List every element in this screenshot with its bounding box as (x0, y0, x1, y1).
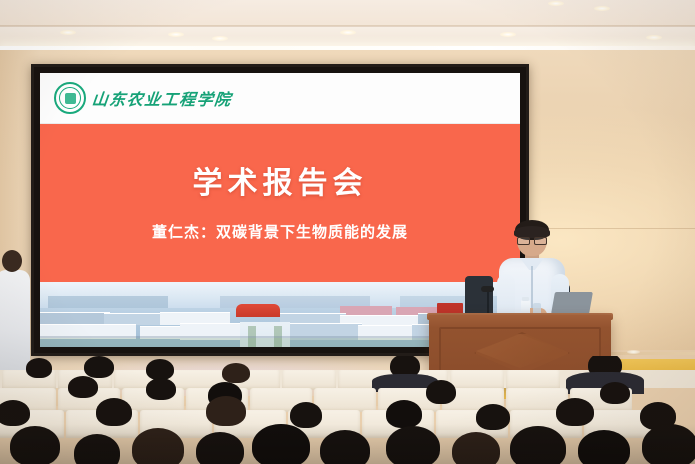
attendee-head (426, 380, 456, 404)
attendee-head (252, 424, 310, 464)
attendee-head (556, 398, 594, 426)
downlight-icon (548, 1, 564, 6)
attendee-head (600, 382, 630, 404)
seat (450, 370, 504, 390)
attendee-head (146, 378, 176, 400)
water-bottle-cap (522, 297, 529, 301)
attendee-head (26, 358, 52, 378)
attendee-head (146, 359, 174, 380)
wall-highlight (627, 350, 640, 354)
attendee-head (132, 428, 184, 464)
institution-logo: 山东农业工程学院 (54, 82, 232, 114)
university-seal-icon (54, 82, 86, 114)
attendee-head (10, 426, 60, 464)
institution-name: 山东农业工程学院 (91, 86, 234, 110)
slide-subtitle: 董仁杰：双碳背景下生物质能的发展 (40, 221, 520, 242)
audience-area (0, 356, 695, 464)
attendee-head (386, 426, 440, 464)
downlight-icon (60, 30, 76, 35)
standing-attendee (0, 250, 32, 370)
downlight-icon (594, 6, 610, 11)
laptop-icon (551, 292, 593, 314)
attendee-head (476, 404, 510, 430)
attendee-head (452, 432, 500, 464)
downlight-icon (340, 30, 356, 35)
attendee-head (0, 400, 30, 426)
ceiling-shadow-line (0, 25, 695, 27)
seat (314, 388, 376, 412)
attendee-head (222, 363, 250, 383)
attendee-head (196, 432, 244, 464)
photo-distant-skyline (48, 296, 168, 308)
attendee-head (290, 402, 322, 428)
attendee-head (578, 430, 630, 464)
attendee-head (386, 400, 422, 428)
attendee-head (206, 396, 246, 426)
lecture-hall-photograph: 山东农业工程学院 学术报告会 董仁杰：双碳背景下生物质能的发展 (0, 0, 695, 464)
attendee-head (642, 424, 695, 464)
downlight-icon (646, 35, 662, 40)
seat (282, 370, 336, 390)
downlight-icon (212, 36, 228, 41)
slide-title: 学术报告会 (40, 158, 520, 202)
attendee-head (96, 398, 132, 426)
attendee-head (68, 376, 98, 398)
slide-header: 山东农业工程学院 (40, 73, 520, 123)
attendee-head (84, 356, 114, 378)
attendee-head (2, 250, 22, 272)
eyeglasses-icon (517, 237, 547, 243)
attendee-head (320, 430, 370, 464)
downlight-icon (168, 32, 184, 37)
seal-core (65, 93, 76, 104)
slide-body: 学术报告会 董仁杰：双碳背景下生物质能的发展 (40, 124, 520, 288)
attendee-head (510, 426, 566, 464)
attendee-body (0, 270, 30, 370)
microphone-icon (481, 286, 494, 292)
seat (506, 370, 560, 390)
attendee-head (74, 434, 120, 464)
downlight-icon (500, 32, 516, 37)
photo-red-building (236, 304, 280, 317)
